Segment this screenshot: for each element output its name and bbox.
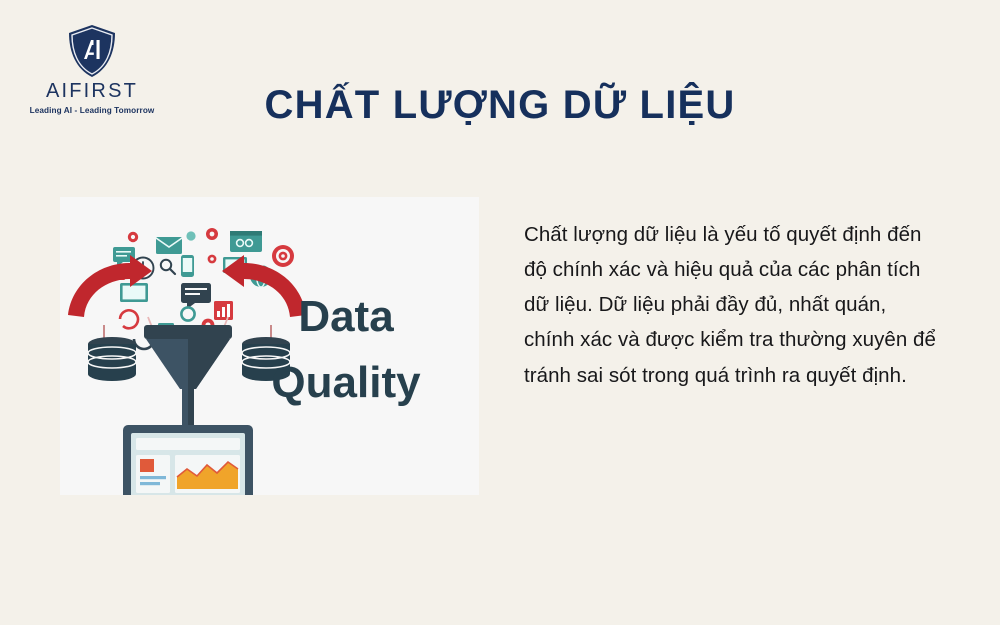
illustration-caption-line1: Data xyxy=(298,292,394,341)
illustration-panel: Data Quality xyxy=(60,197,479,495)
body-paragraph: Chất lượng dữ liệu là yếu tố quyết định … xyxy=(524,217,936,393)
monitor-icon xyxy=(123,425,253,495)
page-title: CHẤT LƯỢNG DỮ LIỆU xyxy=(0,82,1000,128)
shield-icon xyxy=(22,24,162,78)
funnel-icon xyxy=(144,325,232,427)
illustration-caption-line2: Quality xyxy=(271,358,421,407)
database-left-icon xyxy=(88,337,136,381)
